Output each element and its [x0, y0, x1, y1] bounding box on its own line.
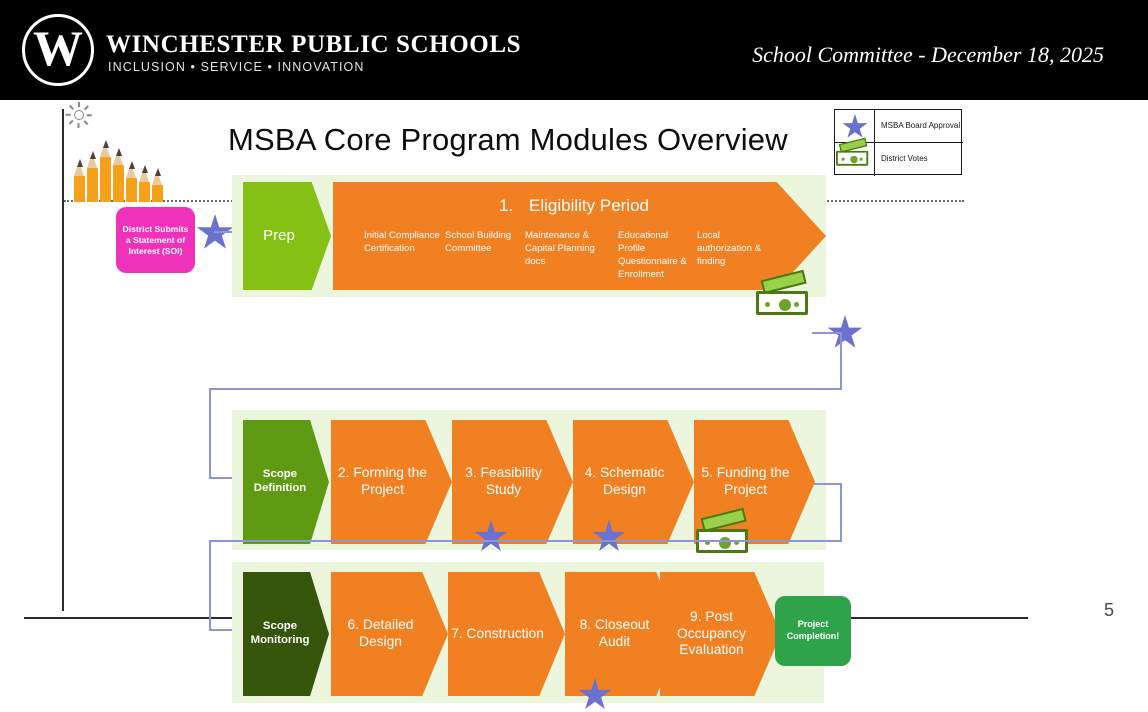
- connector-row1-out: [812, 332, 842, 334]
- connector-row2-across: [209, 540, 842, 542]
- eligibility-item: Educational Profile Questionnaire & Enro…: [618, 230, 692, 282]
- connector-row2-to-row3-down: [209, 540, 211, 630]
- eligibility-item: School Building Committee: [445, 230, 525, 256]
- legend-item-msba-approval: MSBA Board Approval: [835, 110, 963, 143]
- connector-row2-out: [814, 483, 842, 485]
- project-completion-label: Project Completion!: [775, 619, 851, 642]
- legend-money-cell: [835, 143, 875, 176]
- blue-star-icon: [842, 114, 868, 140]
- brand-name: WINCHESTER PUBLIC SCHOOLS: [106, 31, 521, 59]
- page-title: MSBA Core Program Modules Overview: [228, 122, 788, 158]
- money-icon: [836, 144, 871, 166]
- row1-eligibility-bar: 1.Eligibility Period Initial Compliance …: [333, 182, 826, 290]
- module-6-label: 6. Detailed Design: [331, 617, 448, 651]
- district-soi-box: District Submits a Statement of Interest…: [116, 207, 195, 273]
- slide-header: W WINCHESTER PUBLIC SCHOOLS INCLUSION • …: [0, 0, 1148, 100]
- connector-row1-down: [840, 332, 842, 390]
- eligibility-item: Local authorization & finding: [697, 230, 775, 269]
- pencils-icon: [74, 128, 170, 202]
- winchester-logo-icon: W: [22, 14, 94, 86]
- module-3-label: 3. Feasibility Study: [452, 465, 573, 499]
- stage-scope-definition-label: Scope Definition: [243, 468, 329, 496]
- module-7-label: 7. Construction: [451, 626, 562, 643]
- logo-letter: W: [33, 23, 83, 77]
- brand-tagline: INCLUSION • SERVICE • INNOVATION: [108, 60, 365, 74]
- left-vertical-rule: [62, 109, 64, 611]
- money-icon-row1: [756, 280, 812, 316]
- eligibility-title-text: Eligibility Period: [529, 196, 649, 215]
- module-4-label: 4. Schematic Design: [573, 465, 694, 499]
- connector-row1-across: [209, 388, 842, 390]
- district-soi-label: District Submits a Statement of Interest…: [119, 224, 192, 257]
- stage-prep-label: Prep: [263, 227, 311, 245]
- header-date: School Committee - December 18, 2025: [752, 42, 1104, 68]
- eligibility-title: 1.Eligibility Period: [499, 196, 649, 216]
- module-2-label: 2. Forming the Project: [331, 465, 452, 499]
- blue-star-icon-soi: [196, 214, 234, 252]
- page-number: 5: [1104, 600, 1114, 621]
- connector-row1-to-row2-down: [209, 388, 211, 478]
- module-9-label: 9. Post Occupancy Evaluation: [660, 609, 781, 659]
- eligibility-number: 1.: [499, 196, 529, 216]
- legend-label: MSBA Board Approval: [875, 110, 963, 142]
- eligibility-item: Initial Compliance Certification: [364, 230, 444, 256]
- sun-icon: [66, 102, 92, 128]
- slide-body: 5 MSBA Core Program Modules Overview: [0, 100, 1148, 647]
- eligibility-item: Maintenance & Capital Planning docs: [525, 230, 607, 269]
- stage-scope-monitoring-label: Scope Monitoring: [243, 620, 329, 648]
- legend-item-district-votes: District Votes: [835, 143, 963, 176]
- legend-star-cell: [835, 110, 875, 142]
- legend: MSBA Board Approval District Votes: [834, 109, 962, 175]
- legend-label: District Votes: [875, 143, 963, 176]
- connector-row2-down: [840, 483, 842, 542]
- module-5-label: 5. Funding the Project: [694, 465, 815, 499]
- project-completion-box: Project Completion!: [775, 596, 851, 666]
- money-icon-row2: [696, 518, 752, 554]
